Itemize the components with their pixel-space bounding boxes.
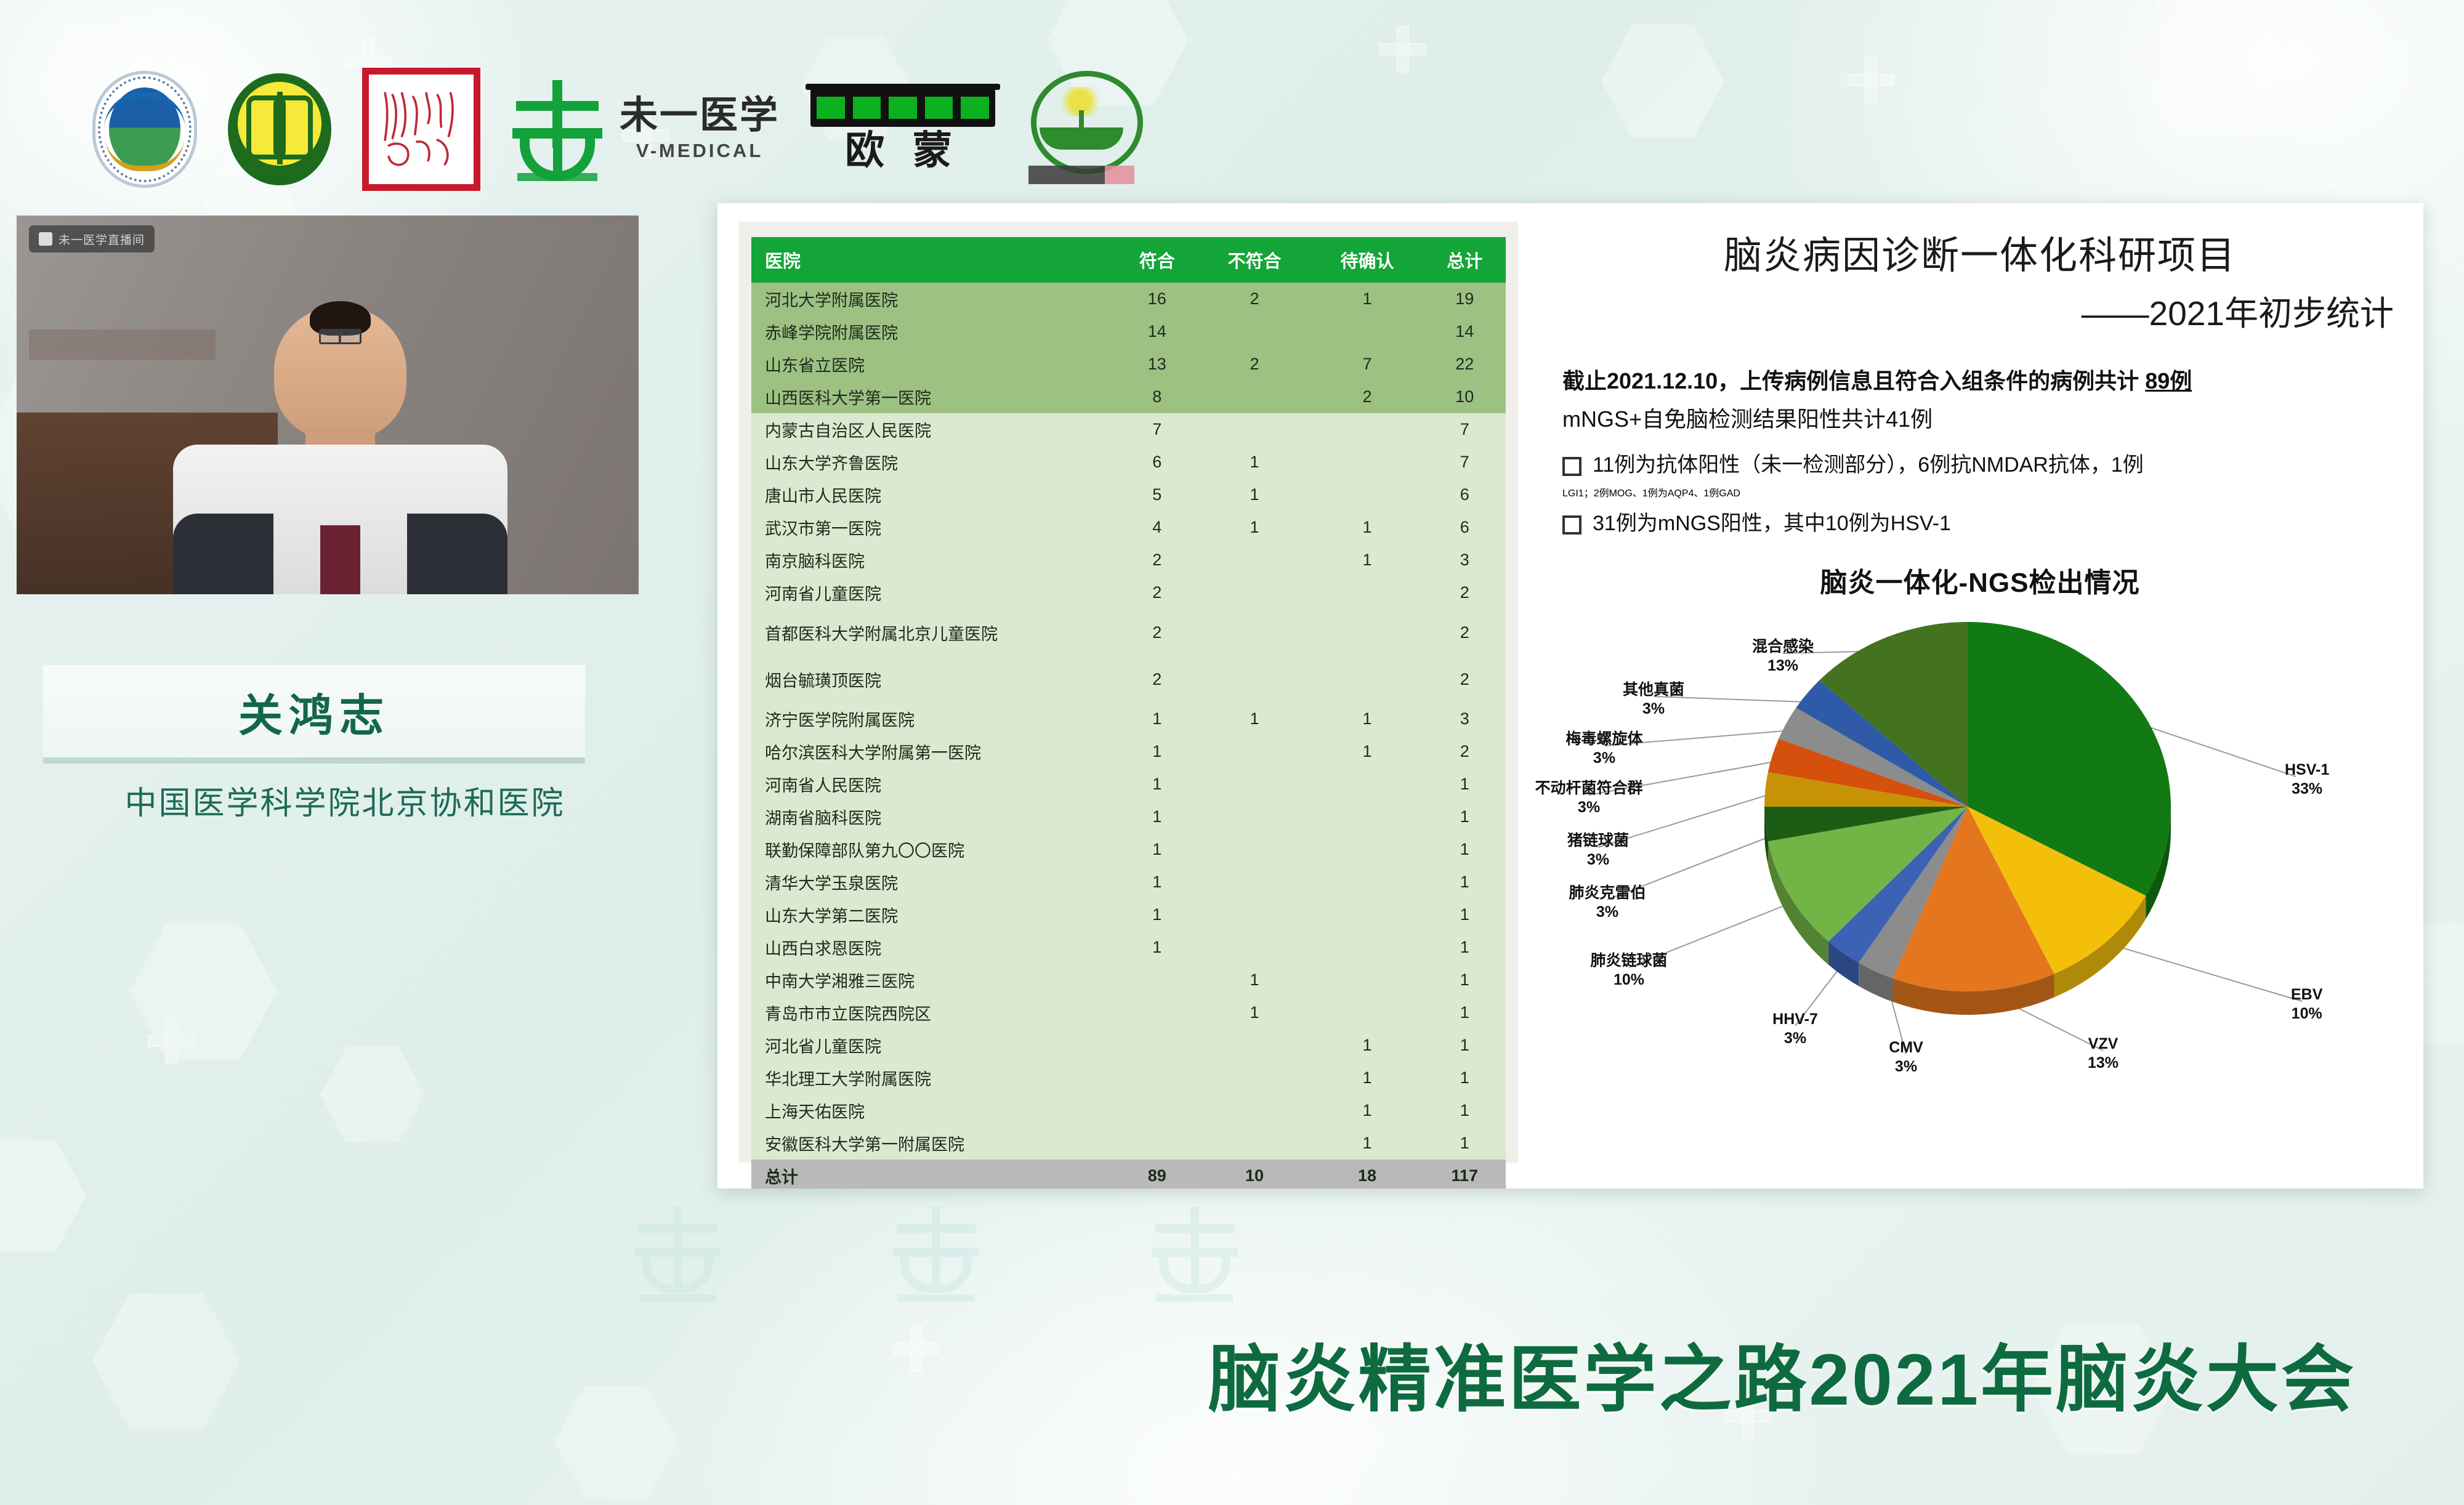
table-cell bbox=[1198, 866, 1311, 898]
pie-label-CMV: CMV3% bbox=[1889, 1038, 1923, 1077]
pie-label-name: VZV bbox=[2088, 1035, 2119, 1052]
table-cell: 1 bbox=[1311, 283, 1423, 315]
lead-highlight: 89例 bbox=[2145, 368, 2192, 393]
table-cell: 1 bbox=[1311, 735, 1423, 768]
table-cell: 河南省人民医院 bbox=[751, 768, 1116, 801]
table-row: 山西医科大学第一医院8210 bbox=[751, 381, 1506, 413]
pie-label-name: EBV bbox=[2291, 986, 2322, 1003]
table-cell bbox=[1311, 964, 1423, 996]
table-row: 青岛市市立医院西院区11 bbox=[751, 996, 1506, 1029]
table-row: 河北省儿童医院11 bbox=[751, 1029, 1506, 1062]
table-cell: 青岛市市立医院西院区 bbox=[751, 996, 1116, 1029]
table-cell bbox=[1198, 1062, 1311, 1094]
table-cell: 1 bbox=[1198, 446, 1311, 478]
table-cell: 1 bbox=[1198, 964, 1311, 996]
table-row: 山东大学齐鲁医院617 bbox=[751, 446, 1506, 478]
table-cell: 1 bbox=[1424, 768, 1506, 801]
ngs-pie-chart: HSV-133%EBV10%VZV13%CMV3%HHV-73%肺炎链球菌10%… bbox=[1537, 603, 2423, 1071]
table-cell: 1 bbox=[1116, 833, 1198, 866]
euroimmun-logo: 欧 蒙 bbox=[810, 89, 995, 170]
table-row: 河南省儿童医院22 bbox=[751, 576, 1506, 609]
pie-label-percent: 3% bbox=[1587, 851, 1609, 868]
table-row: 上海天佑医院11 bbox=[751, 1094, 1506, 1127]
table-cell bbox=[1311, 315, 1423, 348]
table-cell: 2 bbox=[1424, 609, 1506, 656]
table-cell bbox=[1198, 1094, 1311, 1127]
table-cell: 7 bbox=[1311, 348, 1423, 381]
table-cell: 10 bbox=[1198, 1160, 1311, 1188]
table-cell: 1 bbox=[1116, 735, 1198, 768]
table-cell: 哈尔滨医科大学附属第一医院 bbox=[751, 735, 1116, 768]
table-cell bbox=[1198, 544, 1311, 576]
table-cell: 首都医科大学附属北京儿童医院 bbox=[751, 609, 1116, 656]
slide-title: 脑炎病因诊断一体化科研项目 bbox=[1537, 224, 2423, 280]
video-room-badge: 未一医学直播间 bbox=[29, 225, 155, 252]
pie-label-percent: 3% bbox=[1596, 903, 1618, 921]
euroimmun-mark-icon bbox=[810, 89, 995, 127]
table-cell: 1 bbox=[1311, 511, 1423, 544]
table-cell: 6 bbox=[1424, 478, 1506, 511]
table-cell: 上海天佑医院 bbox=[751, 1094, 1116, 1127]
col-pending: 待确认 bbox=[1311, 237, 1423, 283]
sponsor-logo-bar: 未一医学 V-MEDICAL 欧 蒙 bbox=[92, 68, 1137, 191]
pie-label-肺炎链球菌: 肺炎链球菌10% bbox=[1590, 951, 1667, 990]
table-cell: 总计 bbox=[751, 1160, 1116, 1188]
table-cell: 山东大学齐鲁医院 bbox=[751, 446, 1116, 478]
hospital-enrollment-table: 医院 符合 不符合 待确认 总计 河北大学附属医院162119赤峰学院附属医院1… bbox=[751, 237, 1506, 1188]
table-cell bbox=[1311, 576, 1423, 609]
table-cell bbox=[1198, 1127, 1311, 1160]
table-row: 华北理工大学附属医院11 bbox=[751, 1062, 1506, 1094]
col-ineligible: 不符合 bbox=[1198, 237, 1311, 283]
table-cell: 1 bbox=[1116, 703, 1198, 735]
table-cell: 河北大学附属医院 bbox=[751, 283, 1116, 315]
table-cell: 武汉市第一医院 bbox=[751, 511, 1116, 544]
v-medical-logo: 未一医学 V-MEDICAL bbox=[511, 80, 780, 179]
slide-text-panel: 脑炎病因诊断一体化科研项目 ——2021年初步统计 截止2021.12.10，上… bbox=[1537, 203, 2423, 1188]
table-cell bbox=[1198, 1029, 1311, 1062]
table-cell: 南京脑科医院 bbox=[751, 544, 1116, 576]
pie-label-混合感染: 混合感染13% bbox=[1752, 637, 1814, 676]
table-cell: 1 bbox=[1311, 1127, 1423, 1160]
table-cell bbox=[1311, 801, 1423, 833]
table-row: 河北大学附属医院162119 bbox=[751, 283, 1506, 315]
watermark-v-mark-icon bbox=[634, 1207, 721, 1299]
table-cell bbox=[1198, 801, 1311, 833]
table-cell: 2 bbox=[1198, 348, 1311, 381]
table-cell: 1 bbox=[1424, 964, 1506, 996]
watermark-v-mark-icon bbox=[893, 1207, 979, 1299]
pie-label-name: HSV-1 bbox=[2285, 761, 2329, 778]
table-row: 烟台毓璜顶医院22 bbox=[751, 656, 1506, 703]
table-cell: 内蒙古自治区人民医院 bbox=[751, 413, 1116, 446]
presentation-slide[interactable]: 医院 符合 不符合 待确认 总计 河北大学附属医院162119赤峰学院附属医院1… bbox=[717, 203, 2423, 1188]
table-cell: 10 bbox=[1424, 381, 1506, 413]
pie-label-name: 肺炎链球菌 bbox=[1590, 952, 1667, 969]
table-cell bbox=[1311, 609, 1423, 656]
table-cell: 山西白求恩医院 bbox=[751, 931, 1116, 964]
cma-emblem-icon bbox=[92, 71, 197, 188]
table-cell bbox=[1311, 833, 1423, 866]
pie-label-name: 梅毒螺旋体 bbox=[1565, 730, 1642, 748]
table-cell bbox=[1116, 1029, 1198, 1062]
table-cell: 安徽医科大学第一附属医院 bbox=[751, 1127, 1116, 1160]
pie-label-EBV: EBV10% bbox=[2291, 985, 2322, 1024]
table-row: 联勤保障部队第九〇〇医院11 bbox=[751, 833, 1506, 866]
pie-label-HSV-1: HSV-133% bbox=[2285, 761, 2329, 799]
table-cell: 2 bbox=[1116, 576, 1198, 609]
table-cell: 3 bbox=[1424, 703, 1506, 735]
pie-label-肺炎克雷伯: 肺炎克雷伯3% bbox=[1569, 884, 1646, 922]
col-eligible: 符合 bbox=[1116, 237, 1198, 283]
table-cell: 7 bbox=[1424, 413, 1506, 446]
table-row: 唐山市人民医院516 bbox=[751, 478, 1506, 511]
euroimmun-cn-label: 欧 蒙 bbox=[845, 131, 961, 170]
table-cell: 1 bbox=[1116, 801, 1198, 833]
video-room-label: 未一医学直播间 bbox=[59, 231, 145, 248]
table-row: 内蒙古自治区人民医院77 bbox=[751, 413, 1506, 446]
table-cell: 河南省儿童医院 bbox=[751, 576, 1116, 609]
table-cell bbox=[1116, 996, 1198, 1029]
table-cell: 湖南省脑科医院 bbox=[751, 801, 1116, 833]
table-cell: 1 bbox=[1424, 898, 1506, 931]
table-cell bbox=[1311, 446, 1423, 478]
pie-label-percent: 3% bbox=[1593, 749, 1615, 767]
table-cell: 7 bbox=[1424, 446, 1506, 478]
speaker-affiliation: 中国医学科学院北京协和医院 bbox=[43, 777, 647, 823]
pie-label-percent: 10% bbox=[1614, 971, 1644, 988]
table-cell: 华北理工大学附属医院 bbox=[751, 1062, 1116, 1094]
table-cell: 2 bbox=[1311, 381, 1423, 413]
table-cell: 1 bbox=[1116, 866, 1198, 898]
speaker-figure bbox=[166, 307, 514, 594]
pie-label-percent: 3% bbox=[1895, 1058, 1917, 1075]
table-cell bbox=[1198, 833, 1311, 866]
col-hospital: 医院 bbox=[751, 237, 1116, 283]
table-cell: 1 bbox=[1311, 703, 1423, 735]
bullet-item: 31例为mNGS阳性，其中10例为HSV-1 bbox=[1562, 508, 2423, 539]
conference-banner: 脑炎精准医学之路2021年脑炎大会 bbox=[0, 1314, 2464, 1431]
table-cell bbox=[1198, 381, 1311, 413]
table-cell bbox=[1311, 656, 1423, 703]
table-cell: 7 bbox=[1116, 413, 1198, 446]
table-cell bbox=[1198, 931, 1311, 964]
col-total: 总计 bbox=[1424, 237, 1506, 283]
table-cell: 济宁医学院附属医院 bbox=[751, 703, 1116, 735]
table-row: 南京脑科医院213 bbox=[751, 544, 1506, 576]
table-cell: 1 bbox=[1311, 1094, 1423, 1127]
bullet-text: 11例为抗体阳性（未一检测部分），6例抗NMDAR抗体，1例 bbox=[1593, 450, 2144, 481]
pie-label-梅毒螺旋体: 梅毒螺旋体3% bbox=[1565, 730, 1642, 769]
table-cell: 6 bbox=[1424, 511, 1506, 544]
slide-bullet-list: 11例为抗体阳性（未一检测部分），6例抗NMDAR抗体，1例 LGI1；2例MO… bbox=[1562, 450, 2423, 539]
table-cell bbox=[1116, 1062, 1198, 1094]
bullet-item: 11例为抗体阳性（未一检测部分），6例抗NMDAR抗体，1例 bbox=[1562, 450, 2423, 481]
table-cell bbox=[1311, 478, 1423, 511]
table-row: 湖南省脑科医院11 bbox=[751, 801, 1506, 833]
pie-label-name: 肺炎克雷伯 bbox=[1569, 884, 1646, 902]
table-cell: 1 bbox=[1116, 768, 1198, 801]
table-cell: 8 bbox=[1116, 381, 1198, 413]
glasses-icon bbox=[319, 329, 362, 341]
table-cell bbox=[1311, 898, 1423, 931]
neurology-emblem-icon bbox=[228, 73, 331, 185]
square-bullet-icon bbox=[1562, 515, 1581, 535]
table-cell bbox=[1198, 315, 1311, 348]
table-cell: 2 bbox=[1424, 576, 1506, 609]
table-cell bbox=[1311, 996, 1423, 1029]
table-cell: 1 bbox=[1311, 544, 1423, 576]
table-cell: 河北省儿童医院 bbox=[751, 1029, 1116, 1062]
table-cell: 山西医科大学第一医院 bbox=[751, 381, 1116, 413]
pie-label-name: 混合感染 bbox=[1752, 638, 1814, 655]
bullet-continuation: LGI1；2例MOG、1例为AQP4、1例GAD bbox=[1562, 485, 2423, 499]
table-cell: 1 bbox=[1424, 833, 1506, 866]
table-cell: 1 bbox=[1198, 511, 1311, 544]
speaker-name: 关鸿志 bbox=[238, 679, 390, 744]
slide-lead-line: 截止2021.12.10，上传病例信息且符合入组条件的病例共计 89例 bbox=[1562, 365, 2423, 398]
table-row: 清华大学玉泉医院11 bbox=[751, 866, 1506, 898]
table-row: 哈尔滨医科大学附属第一医院112 bbox=[751, 735, 1506, 768]
table-cell: 14 bbox=[1424, 315, 1506, 348]
v-medical-mark-icon bbox=[511, 80, 604, 179]
lead-prefix: 截止2021.12.10，上传病例信息且符合入组条件的病例共计 bbox=[1562, 368, 2145, 393]
table-cell bbox=[1198, 898, 1311, 931]
table-cell: 1 bbox=[1424, 931, 1506, 964]
table-cell: 1 bbox=[1424, 1127, 1506, 1160]
table-row: 山西白求恩医院11 bbox=[751, 931, 1506, 964]
conference-banner-text: 脑炎精准医学之路2021年脑炎大会 bbox=[1208, 1320, 2356, 1426]
table-cell: 14 bbox=[1116, 315, 1198, 348]
pie-label-percent: 13% bbox=[1767, 657, 1798, 674]
table-cell: 唐山市人民医院 bbox=[751, 478, 1116, 511]
speaker-video-tile[interactable]: 未一医学直播间 bbox=[17, 216, 639, 594]
table-cell bbox=[1311, 866, 1423, 898]
table-cell bbox=[1311, 931, 1423, 964]
table-cell: 1 bbox=[1424, 996, 1506, 1029]
pie-label-其他真菌: 其他真菌3% bbox=[1623, 680, 1684, 719]
table-cell: 2 bbox=[1198, 283, 1311, 315]
table-cell: 6 bbox=[1116, 446, 1198, 478]
table-cell bbox=[1198, 576, 1311, 609]
table-cell: 1 bbox=[1424, 1094, 1506, 1127]
pie-label-percent: 3% bbox=[1578, 799, 1600, 816]
table-cell: 1 bbox=[1116, 931, 1198, 964]
table-header-row: 医院 符合 不符合 待确认 总计 bbox=[751, 237, 1506, 283]
pie-label-percent: 33% bbox=[2292, 780, 2322, 797]
table-cell bbox=[1198, 735, 1311, 768]
table-cell: 3 bbox=[1424, 544, 1506, 576]
pie-label-percent: 10% bbox=[2292, 1005, 2322, 1022]
pie-label-percent: 3% bbox=[1642, 700, 1665, 717]
table-body: 河北大学附属医院162119赤峰学院附属医院1414山东省立医院132722山西… bbox=[751, 283, 1506, 1188]
pie-label-VZV: VZV13% bbox=[2088, 1035, 2119, 1073]
red-seal-icon bbox=[362, 68, 480, 191]
table-cell: 1 bbox=[1311, 1062, 1423, 1094]
table-cell: 19 bbox=[1424, 283, 1506, 315]
table-cell: 1 bbox=[1198, 703, 1311, 735]
table-cell bbox=[1116, 1127, 1198, 1160]
table-row: 中南大学湘雅三医院11 bbox=[751, 964, 1506, 996]
table-cell: 赤峰学院附属医院 bbox=[751, 315, 1116, 348]
v-medical-en-label: V-MEDICAL bbox=[636, 140, 764, 162]
chart-title: 脑炎一体化-NGS检出情况 bbox=[1537, 560, 2423, 600]
table-cell: 清华大学玉泉医院 bbox=[751, 866, 1116, 898]
table-cell bbox=[1116, 1094, 1198, 1127]
table-row: 武汉市第一医院4116 bbox=[751, 511, 1506, 544]
pie-label-percent: 3% bbox=[1784, 1030, 1806, 1047]
table-cell: 联勤保障部队第九〇〇医院 bbox=[751, 833, 1116, 866]
table-cell: 22 bbox=[1424, 348, 1506, 381]
table-cell: 2 bbox=[1116, 544, 1198, 576]
table-cell: 山东省立医院 bbox=[751, 348, 1116, 381]
table-cell: 山东大学第二医院 bbox=[751, 898, 1116, 931]
v-medical-cn-label: 未一医学 bbox=[620, 97, 780, 135]
table-cell bbox=[1311, 413, 1423, 446]
pie-label-name: CMV bbox=[1889, 1039, 1923, 1056]
table-cell: 1 bbox=[1424, 866, 1506, 898]
table-cell: 1 bbox=[1198, 996, 1311, 1029]
pie-label-name: 其他真菌 bbox=[1623, 681, 1684, 698]
bullet-text: 31例为mNGS阳性，其中10例为HSV-1 bbox=[1593, 508, 1951, 539]
pie-leader-line bbox=[2096, 940, 2302, 1001]
table-cell bbox=[1116, 964, 1198, 996]
table-row: 安徽医科大学第一附属医院11 bbox=[751, 1127, 1506, 1160]
pie-label-name: 猪链球菌 bbox=[1567, 832, 1629, 849]
table-cell bbox=[1198, 768, 1311, 801]
table-cell: 1 bbox=[1424, 801, 1506, 833]
table-cell: 1 bbox=[1424, 1029, 1506, 1062]
table-cell: 117 bbox=[1424, 1160, 1506, 1188]
table-row: 山东省立医院132722 bbox=[751, 348, 1506, 381]
table-row: 山东大学第二医院11 bbox=[751, 898, 1506, 931]
pie-label-percent: 13% bbox=[2088, 1054, 2119, 1071]
table-cell: 4 bbox=[1116, 511, 1198, 544]
slide-lead-line2: mNGS+自免脑检测结果阳性共计41例 bbox=[1562, 403, 2423, 436]
table-cell bbox=[1198, 413, 1311, 446]
table-cell: 2 bbox=[1424, 656, 1506, 703]
speaker-name-plate: 关鸿志 bbox=[43, 665, 585, 757]
table-cell: 2 bbox=[1116, 609, 1198, 656]
pie-label-name: HHV-7 bbox=[1772, 1011, 1818, 1028]
table-cell bbox=[1198, 656, 1311, 703]
table-cell: 烟台毓璜顶医院 bbox=[751, 656, 1116, 703]
table-row: 济宁医学院附属医院1113 bbox=[751, 703, 1506, 735]
table-cell: 1 bbox=[1198, 478, 1311, 511]
room-icon bbox=[39, 232, 52, 246]
pie-label-name: 不动杆菌符合群 bbox=[1535, 780, 1642, 797]
slide-table-panel: 医院 符合 不符合 待确认 总计 河北大学附属医院162119赤峰学院附属医院1… bbox=[739, 222, 1518, 1163]
table-cell: 13 bbox=[1116, 348, 1198, 381]
table-cell: 1 bbox=[1424, 1062, 1506, 1094]
table-cell: 2 bbox=[1424, 735, 1506, 768]
table-total-row: 总计891018117 bbox=[751, 1160, 1506, 1188]
table-row: 赤峰学院附属医院1414 bbox=[751, 315, 1506, 348]
table-cell: 16 bbox=[1116, 283, 1198, 315]
table-cell: 1 bbox=[1311, 1029, 1423, 1062]
table-row: 首都医科大学附属北京儿童医院22 bbox=[751, 609, 1506, 656]
slide-subtitle: ——2021年初步统计 bbox=[1537, 286, 2394, 335]
pie-svg bbox=[1537, 603, 2423, 1071]
table-cell: 89 bbox=[1116, 1160, 1198, 1188]
table-cell: 中南大学湘雅三医院 bbox=[751, 964, 1116, 996]
pie-label-HHV-7: HHV-73% bbox=[1772, 1010, 1818, 1049]
table-cell: 2 bbox=[1116, 656, 1198, 703]
table-cell: 1 bbox=[1116, 898, 1198, 931]
table-row: 河南省人民医院11 bbox=[751, 768, 1506, 801]
pie-label-不动杆菌符合群: 不动杆菌符合群3% bbox=[1535, 779, 1642, 818]
pie-label-猪链球菌: 猪链球菌3% bbox=[1567, 831, 1629, 870]
table-cell bbox=[1198, 609, 1311, 656]
square-bullet-icon bbox=[1562, 457, 1581, 476]
table-cell bbox=[1311, 768, 1423, 801]
watermark-v-mark-icon bbox=[1152, 1207, 1238, 1299]
table-cell: 5 bbox=[1116, 478, 1198, 511]
yizhiyuan-logo-icon bbox=[1026, 71, 1137, 188]
table-cell: 18 bbox=[1311, 1160, 1423, 1188]
